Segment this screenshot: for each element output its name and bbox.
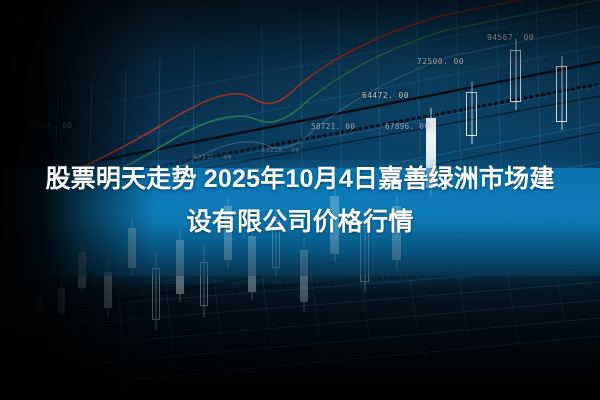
headline-line-1: 股票明天走势 2025年10月4日嘉善绿洲市场建 — [0, 158, 600, 201]
stock-banner-image: 94567. 0072500. 0064472. 0067896. 005872… — [0, 0, 600, 400]
headline: 股票明天走势 2025年10月4日嘉善绿洲市场建 设有限公司价格行情 — [0, 158, 600, 244]
headline-line-2: 设有限公司价格行情 — [0, 201, 600, 244]
